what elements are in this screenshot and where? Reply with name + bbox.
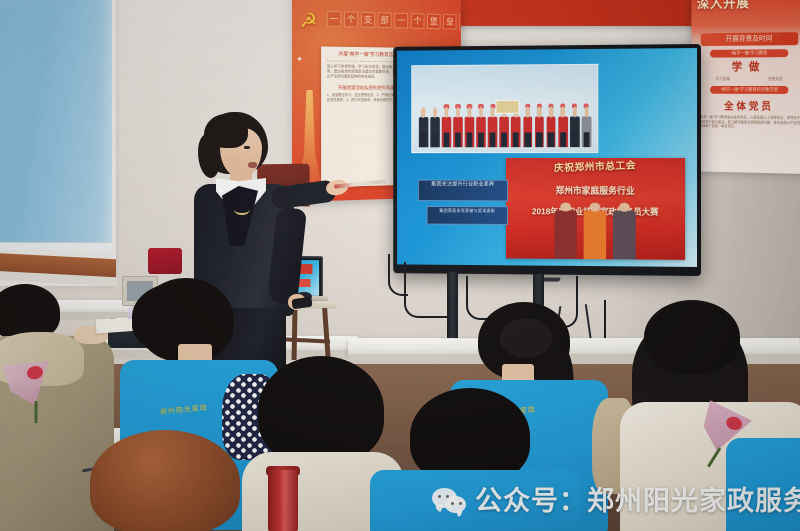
- photo-person: [430, 93, 441, 147]
- presenter-mouth: [248, 162, 257, 168]
- photo-person: [534, 92, 545, 147]
- hair-bun: [500, 318, 552, 358]
- award-person: [552, 196, 578, 259]
- award-banner-line-1: 庆祝郑州市总工会: [510, 159, 682, 177]
- presenter-hair-side: [198, 134, 220, 178]
- photo-person: [464, 92, 475, 146]
- slogan-cell: 堡: [427, 14, 440, 30]
- window-blind[interactable]: [0, 0, 112, 250]
- photo-person: [522, 92, 533, 147]
- tv-cable: [388, 254, 408, 296]
- right-wall-poster: 深入开展 开展背景及时间 "两学一做"学习教育 学做 学习党章 合格党员 "两学…: [691, 0, 800, 174]
- slogan-cell: 一: [327, 11, 341, 27]
- group-photo-people: [418, 84, 592, 147]
- slogan-cell: 垒: [443, 14, 456, 30]
- photo-person: [569, 92, 580, 147]
- photo-person: [441, 93, 452, 147]
- right-poster-paragraph: "两学一做"学习教育面向全体党员，以县处级以上领导机关、领导班子和领导干部为重点…: [699, 115, 800, 130]
- right-poster-big-text-1: 学做: [697, 60, 800, 74]
- tv-screen: 庆祝郑州市总工会 郑州市家庭服务行业 2018年度职业技能家政服务员大赛 集团关…: [397, 48, 697, 267]
- slide-group-photo: [412, 64, 599, 153]
- red-thermos[interactable]: [268, 470, 298, 531]
- dove-icon: ✦: [296, 54, 303, 65]
- slogan-cell: 个: [344, 11, 358, 27]
- right-poster-small-labels: 学习党章 合格党员: [697, 77, 800, 82]
- slide-award-photo: 庆祝郑州市总工会 郑州市家庭服务行业 2018年度职业技能家政服务员大赛: [506, 158, 684, 261]
- photo-person: [557, 92, 568, 147]
- slogan-cell: 支: [361, 12, 375, 28]
- photo-person: [546, 92, 557, 147]
- attendee-front-red-hair: [90, 430, 240, 531]
- right-poster-headline: 深入开展: [697, 0, 800, 12]
- award-person: [582, 196, 609, 259]
- tv-bezel: 庆祝郑州市总工会 郑州市家庭服务行业 2018年度职业技能家政服务员大赛 集团关…: [393, 44, 701, 276]
- wechat-icon: [432, 486, 466, 516]
- slogan-cell: 一: [459, 14, 461, 29]
- rose-stem: [35, 401, 38, 423]
- slogan-cell: 一: [394, 13, 408, 29]
- attendee-head: [258, 356, 384, 464]
- watermark-text: 公众号：郑州阳光家政服务公司: [475, 486, 800, 516]
- stool-leg: [322, 308, 331, 362]
- attendee-head: [644, 300, 740, 374]
- presenter-necklace: [234, 204, 250, 215]
- presentation-display[interactable]: 庆祝郑州市总工会 郑州市家庭服务行业 2018年度职业技能家政服务员大赛 集团关…: [393, 44, 701, 276]
- photo-person: [453, 93, 464, 147]
- party-emblem-icon: ☭: [300, 10, 325, 32]
- screenshot-root: ☭ 一 个 支 部 一 个 堡 垒 一 个 ✦ 开展"两学一做"学习教育活动 深…: [0, 0, 800, 531]
- right-poster-small-label: 学习党章: [716, 77, 730, 82]
- photo-person: [581, 92, 592, 147]
- right-poster-tag-2: "两学一做"学习教育的对象范围: [710, 86, 788, 94]
- presenter-remote[interactable]: [291, 297, 312, 310]
- photo-person: [476, 92, 487, 147]
- presenter-eye: [244, 146, 250, 149]
- right-poster-small-label: 合格党员: [768, 77, 783, 82]
- right-poster-pill: 开展背景及时间: [701, 32, 798, 46]
- right-poster-big-text-2: 全体党员: [697, 100, 800, 113]
- certificate-plaque: [495, 100, 519, 113]
- watermark: 公众号：郑州阳光家政服务公司: [432, 486, 800, 516]
- slide-text-box-2: 集团荣获多项荣誉与奖项表彰: [426, 206, 508, 226]
- slogan-cell: 部: [378, 12, 392, 28]
- slide-text-box-1: 集团关注提升行业职业素养: [418, 180, 509, 202]
- right-poster-tag-1: "两学一做"学习教育: [710, 49, 788, 57]
- award-photo-people: [552, 196, 638, 260]
- photo-person: [418, 93, 429, 147]
- slogan-cell: 个: [411, 13, 425, 29]
- award-person: [611, 196, 638, 260]
